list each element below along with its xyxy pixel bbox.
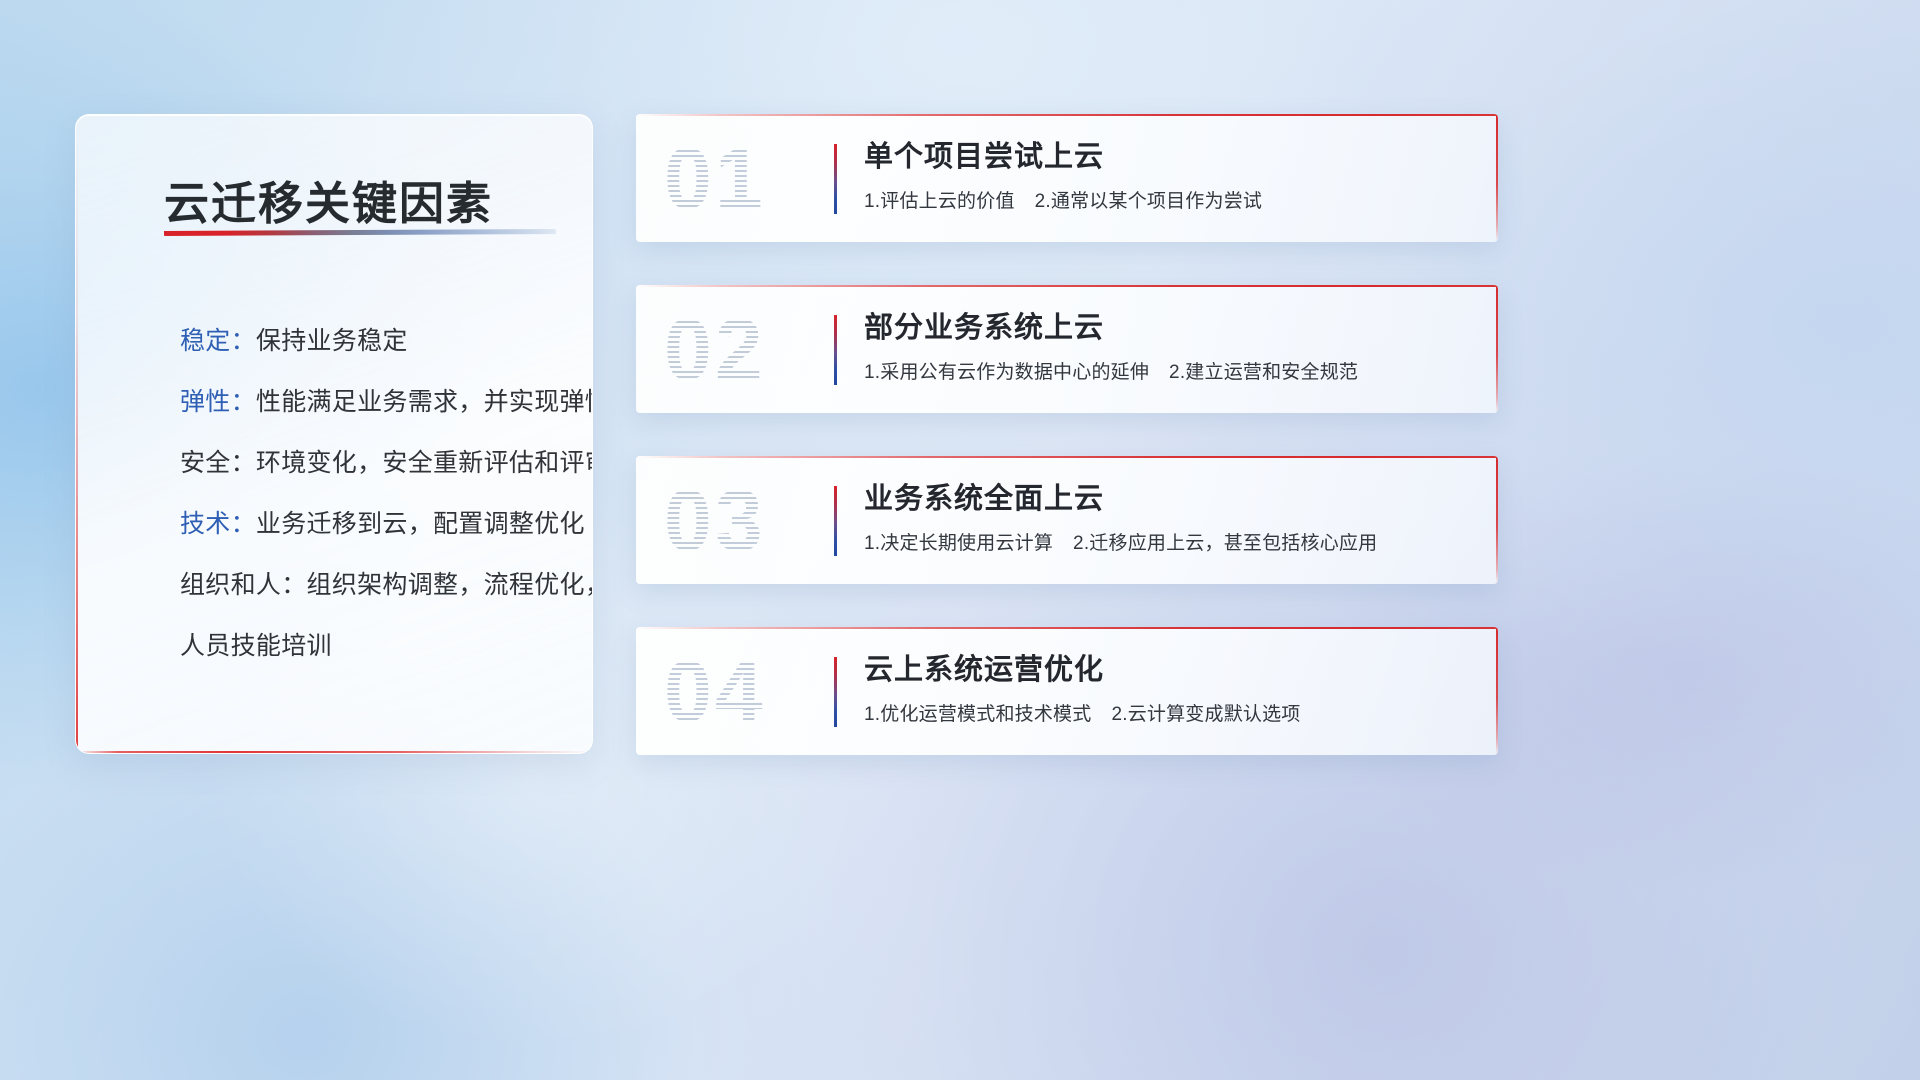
list-item-label: 组织和人： xyxy=(180,571,307,599)
list-item-text: 性能满足业务需求，并实现弹性 xyxy=(256,388,593,416)
stage-card-title: 业务系统全面上云 xyxy=(864,478,1474,520)
accent-bar xyxy=(834,144,837,214)
stage-card-body: 部分业务系统上云 1.采用公有云作为数据中心的延伸2.建立运营和安全规范 xyxy=(864,307,1474,387)
stage-card[interactable]: 02 部分业务系统上云 1.采用公有云作为数据中心的延伸2.建立运营和安全规范 xyxy=(636,285,1498,413)
list-item: 组织和人：组织架构调整，流程优化， xyxy=(180,555,562,616)
list-item-label: 弹性： xyxy=(180,388,256,416)
stage-card-desc: 1.评估上云的价值2.通常以某个项目作为尝试 xyxy=(864,188,1474,216)
page-title: 云迁移关键因素 xyxy=(164,167,493,232)
stage-card-desc-1: 1.优化运营模式和技术模式 xyxy=(864,704,1091,725)
stage-card-desc-1: 1.采用公有云作为数据中心的延伸 xyxy=(864,362,1149,383)
list-item-label: 安全： xyxy=(180,449,256,477)
stage-card-desc-1: 1.决定长期使用云计算 xyxy=(864,533,1053,554)
stage-card-desc-2: 2.迁移应用上云，甚至包括核心应用 xyxy=(1073,533,1377,554)
stage-card-body: 单个项目尝试上云 1.评估上云的价值2.通常以某个项目作为尝试 xyxy=(864,136,1474,216)
list-item-text: 环境变化，安全重新评估和评审 xyxy=(256,449,593,477)
stage-card-desc-2: 2.建立运营和安全规范 xyxy=(1169,362,1358,383)
stage-card-desc-1: 1.评估上云的价值 xyxy=(864,191,1015,212)
list-item: 稳定：保持业务稳定 xyxy=(180,311,562,372)
accent-bar xyxy=(834,657,837,727)
list-item-text: 保持业务稳定 xyxy=(256,327,408,355)
list-item: 技术：业务迁移到云，配置调整优化 xyxy=(180,494,562,555)
list-item-text: 人员技能培训 xyxy=(180,632,332,660)
stage-card-title: 单个项目尝试上云 xyxy=(864,136,1474,178)
stage-card-desc: 1.决定长期使用云计算2.迁移应用上云，甚至包括核心应用 xyxy=(864,530,1474,558)
list-item: 人员技能培训 xyxy=(180,616,562,677)
stage-number: 01 xyxy=(664,130,814,228)
stage-card-desc: 1.采用公有云作为数据中心的延伸2.建立运营和安全规范 xyxy=(864,359,1474,387)
list-item-label: 稳定： xyxy=(180,327,256,355)
stage-cards-column: 01 单个项目尝试上云 1.评估上云的价值2.通常以某个项目作为尝试 02 部分… xyxy=(636,114,1498,798)
stage-card-desc-2: 2.云计算变成默认选项 xyxy=(1111,704,1300,725)
key-factors-list: 稳定：保持业务稳定 弹性：性能满足业务需求，并实现弹性 安全：环境变化，安全重新… xyxy=(180,311,562,677)
stage-card-body: 业务系统全面上云 1.决定长期使用云计算2.迁移应用上云，甚至包括核心应用 xyxy=(864,478,1474,558)
stage-number: 02 xyxy=(664,301,814,399)
stage-card-desc-2: 2.通常以某个项目作为尝试 xyxy=(1035,191,1262,212)
stage-card-title: 部分业务系统上云 xyxy=(864,307,1474,349)
stage-number: 04 xyxy=(664,643,814,741)
stage-number: 03 xyxy=(664,472,814,570)
key-factors-card: 云迁移关键因素 稳定：保持业务稳定 弹性：性能满足业务需求，并实现弹性 安全：环… xyxy=(75,114,593,754)
accent-bar xyxy=(834,315,837,385)
stage-card[interactable]: 04 云上系统运营优化 1.优化运营模式和技术模式2.云计算变成默认选项 xyxy=(636,627,1498,755)
list-item-label: 技术： xyxy=(180,510,256,538)
list-item-text: 组织架构调整，流程优化， xyxy=(307,571,593,599)
stage-card-title: 云上系统运营优化 xyxy=(864,649,1474,691)
list-item: 弹性：性能满足业务需求，并实现弹性 xyxy=(180,372,562,433)
stage-card-desc: 1.优化运营模式和技术模式2.云计算变成默认选项 xyxy=(864,701,1474,729)
accent-bar xyxy=(834,486,837,556)
list-item: 安全：环境变化，安全重新评估和评审 xyxy=(180,433,562,494)
stage-card[interactable]: 01 单个项目尝试上云 1.评估上云的价值2.通常以某个项目作为尝试 xyxy=(636,114,1498,242)
stage-card-body: 云上系统运营优化 1.优化运营模式和技术模式2.云计算变成默认选项 xyxy=(864,649,1474,729)
list-item-text: 业务迁移到云，配置调整优化 xyxy=(256,510,585,538)
stage-card[interactable]: 03 业务系统全面上云 1.决定长期使用云计算2.迁移应用上云，甚至包括核心应用 xyxy=(636,456,1498,584)
slide-stage: 云迁移关键因素 稳定：保持业务稳定 弹性：性能满足业务需求，并实现弹性 安全：环… xyxy=(0,0,1920,1080)
